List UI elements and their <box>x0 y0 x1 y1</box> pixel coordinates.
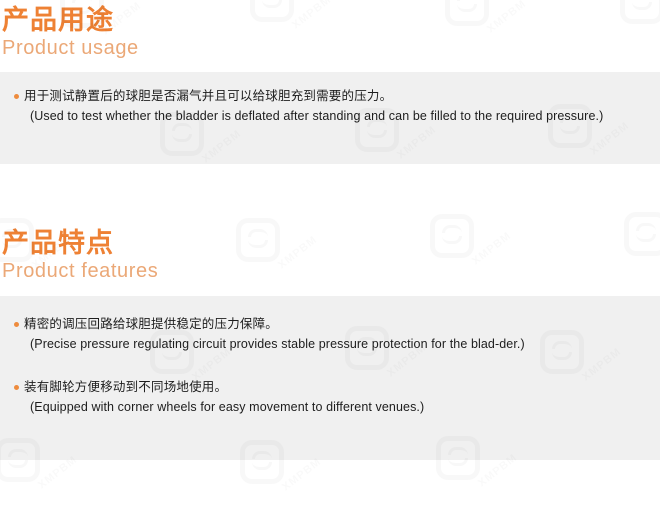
bullet-text-en: (Equipped with corner wheels for easy mo… <box>24 397 634 418</box>
heading-cn-features: 产品特点 <box>2 229 660 259</box>
section-heading-features: 产品特点 Product features <box>0 229 660 284</box>
heading-en-usage: Product usage <box>2 36 660 61</box>
product-info-page: 产品用途 Product usage 用于测试静置后的球胆是否漏气并且可以给球胆… <box>0 0 660 460</box>
bullet-list-usage: 用于测试静置后的球胆是否漏气并且可以给球胆充到需要的压力。 (Used to t… <box>0 86 642 127</box>
heading-en-features: Product features <box>2 259 660 284</box>
bullet-dot-icon <box>14 385 19 390</box>
content-panel-usage: 用于测试静置后的球胆是否漏气并且可以给球胆充到需要的压力。 (Used to t… <box>0 72 660 164</box>
bullet-text-cn: 精密的调压回路给球胆提供稳定的压力保障。 <box>24 314 642 334</box>
list-item: 精密的调压回路给球胆提供稳定的压力保障。 (Precise pressure r… <box>0 314 642 355</box>
bullet-text-cn: 装有脚轮方便移动到不同场地使用。 <box>24 377 642 397</box>
section-heading-usage: 产品用途 Product usage <box>0 0 660 61</box>
bullet-text-cn: 用于测试静置后的球胆是否漏气并且可以给球胆充到需要的压力。 <box>24 86 642 106</box>
watermark-text: XMPBM <box>280 456 324 494</box>
heading-cn-usage: 产品用途 <box>2 6 660 36</box>
content-panel-features: 精密的调压回路给球胆提供稳定的压力保障。 (Precise pressure r… <box>0 296 660 460</box>
section-product-usage: 产品用途 Product usage 用于测试静置后的球胆是否漏气并且可以给球胆… <box>0 0 660 164</box>
bullet-list-features: 精密的调压回路给球胆提供稳定的压力保障。 (Precise pressure r… <box>0 314 642 418</box>
bullet-dot-icon <box>14 94 19 99</box>
bullet-dot-icon <box>14 322 19 327</box>
bullet-text-en: (Used to test whether the bladder is def… <box>24 106 634 127</box>
list-item: 用于测试静置后的球胆是否漏气并且可以给球胆充到需要的压力。 (Used to t… <box>0 86 642 127</box>
bullet-text-en: (Precise pressure regulating circuit pro… <box>24 334 634 355</box>
list-item: 装有脚轮方便移动到不同场地使用。 (Equipped with corner w… <box>0 377 642 418</box>
section-product-features: 产品特点 Product features 精密的调压回路给球胆提供稳定的压力保… <box>0 229 660 460</box>
